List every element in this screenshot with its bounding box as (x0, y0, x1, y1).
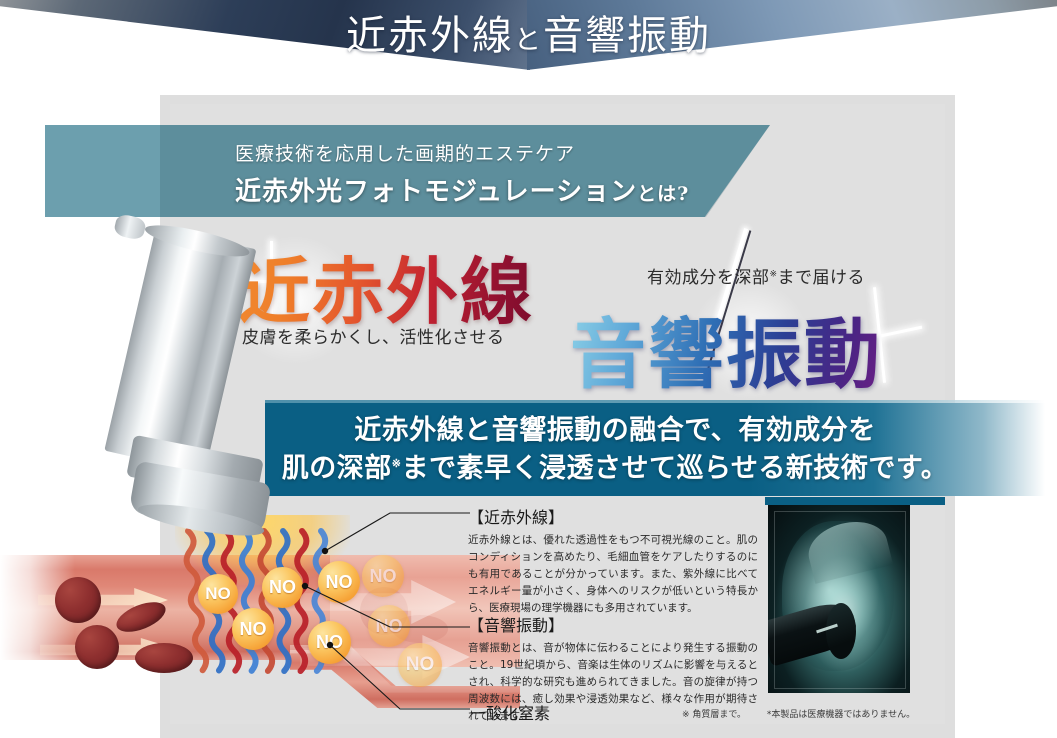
nitric-oxide-label: 一酸化窒素 (470, 700, 550, 724)
lead-banner-title-suffix: とは? (637, 183, 689, 205)
no-bubble: NO (308, 621, 351, 664)
page-title-part2: 音響振動 (543, 13, 711, 59)
headline-sound-caption-a: 有効成分を深部 (647, 268, 770, 288)
headline-sound-caption: 有効成分を深部※まで届ける (647, 263, 865, 288)
no-bubble: NO (198, 574, 238, 614)
photo-border (774, 511, 906, 689)
no-bubble: NO (362, 555, 404, 597)
page-title: 近赤外線と音響振動 (0, 3, 1057, 61)
device-shaft (104, 226, 256, 473)
info-block-infrared: 【近赤外線】 近赤外線とは、優れた透過性をもつ不可視光線のこと。肌のコンディショ… (468, 504, 758, 617)
statement-text: 近赤外線と音響振動の融合で、有効成分を 肌の深部※まで素早く浸透させて巡らせる新… (265, 412, 965, 489)
footnote-mark: ※ (770, 269, 778, 279)
no-bubble: NO (368, 605, 410, 647)
lead-banner-title: 近赤外光フォトモジュレーションとは? (235, 171, 689, 208)
page-title-part1: 近赤外線 (346, 13, 514, 59)
info-block-body: 近赤外線とは、優れた透過性をもつ不可視光線のこと。肌のコンディションを高めたり、… (468, 532, 758, 617)
no-bubble: NO (232, 608, 274, 650)
lead-banner-text: 医療技術を応用した画期的エステケア 近赤外光フォトモジュレーションとは? (235, 139, 689, 208)
no-bubble: NO (398, 643, 442, 687)
footnote-1: ※ 角質層まで。 (682, 710, 746, 720)
headline-sound: 音響振動 (570, 293, 882, 403)
device-top-nub (113, 213, 147, 241)
headline-sound-caption-b: まで届ける (778, 268, 866, 288)
info-block-title: 【音響振動】 (468, 612, 758, 636)
header-banner: 近赤外線と音響振動 (0, 0, 1057, 80)
no-bubble: NO (318, 561, 360, 603)
statement-line-2: 肌の深部※まで素早く浸透させて巡らせる新技術です。 (265, 450, 965, 488)
footnotes: ※ 角質層まで。 *本製品は医療機器ではありません。 (682, 707, 933, 720)
info-block-title: 【近赤外線】 (468, 504, 758, 528)
page-title-conjunction: と (514, 25, 543, 56)
lead-banner-title-main: 近赤外光フォトモジュレーション (235, 177, 637, 207)
lead-banner-subtitle: 医療技術を応用した画期的エステケア (235, 139, 689, 166)
statement-line-1: 近赤外線と音響振動の融合で、有効成分を (265, 412, 965, 450)
no-bubble: NO (262, 567, 303, 608)
lead-banner: 医療技術を応用した画期的エステケア 近赤外光フォトモジュレーションとは? (45, 125, 770, 217)
footnote-2: *本製品は医療機器ではありません。 (767, 710, 915, 720)
photo-top-band (765, 497, 945, 505)
treatment-photo (768, 505, 910, 693)
handpiece-device (85, 232, 315, 527)
footnote-mark: ※ (392, 457, 402, 470)
statement-line-2b: まで素早く浸透させて巡らせる新技術です。 (401, 453, 948, 484)
vibration-wave (241, 531, 257, 671)
